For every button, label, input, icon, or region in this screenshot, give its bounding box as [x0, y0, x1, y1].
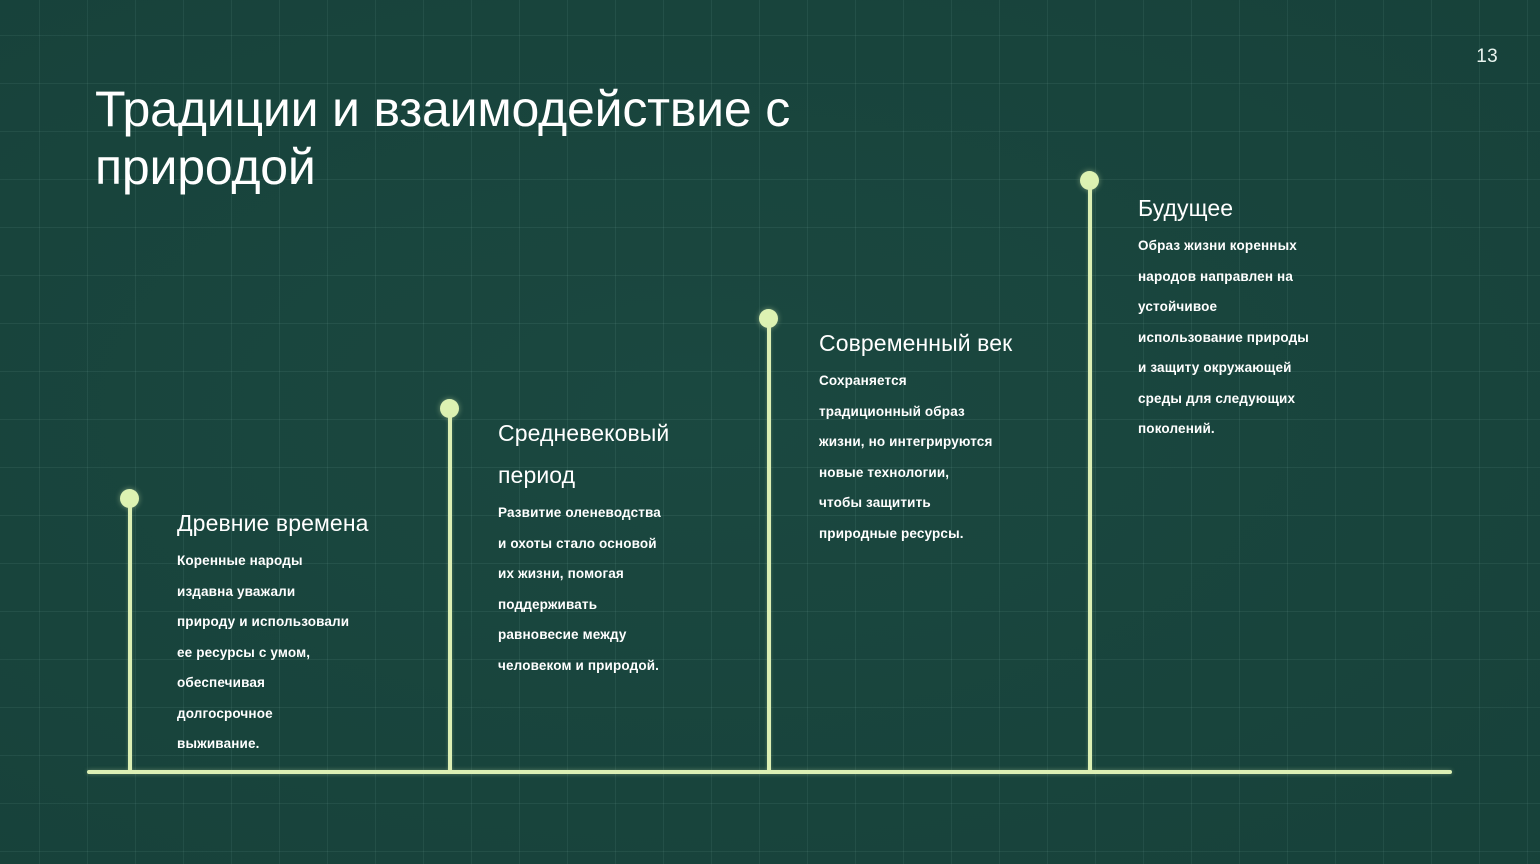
- page-title: Традиции и взаимодействие с природой: [95, 80, 995, 196]
- timeline-item-text: Будущее Образ жизни коренных народов нап…: [1138, 187, 1373, 445]
- timeline-item-body: Сохраняется традиционный образ жизни, но…: [819, 366, 1041, 549]
- timeline-item-body: Образ жизни коренных народов направлен н…: [1138, 231, 1373, 445]
- slide-canvas: 13 Традиции и взаимодействие с природой …: [0, 0, 1540, 864]
- timeline-stem: [448, 414, 452, 772]
- timeline-stem: [1088, 186, 1092, 772]
- timeline-item-heading: Будущее: [1138, 187, 1373, 229]
- timeline-item-text: Современный век Сохраняется традиционный…: [819, 322, 1041, 549]
- timeline-item-heading: Древние времена: [177, 502, 409, 544]
- timeline-item-text: Древние времена Коренные народы издавна …: [177, 502, 409, 760]
- timeline-stem: [767, 324, 771, 772]
- timeline-item-body: Коренные народы издавна уважали природу …: [177, 546, 409, 760]
- timeline-item-body: Развитие оленеводства и охоты стало осно…: [498, 498, 716, 681]
- timeline-stem: [128, 504, 132, 772]
- page-number: 13: [1476, 46, 1498, 68]
- timeline-item-heading: Современный век: [819, 322, 1041, 364]
- timeline-item-text: Средневековый период Развитие оленеводст…: [498, 412, 716, 681]
- timeline-item-heading: Средневековый период: [498, 412, 716, 496]
